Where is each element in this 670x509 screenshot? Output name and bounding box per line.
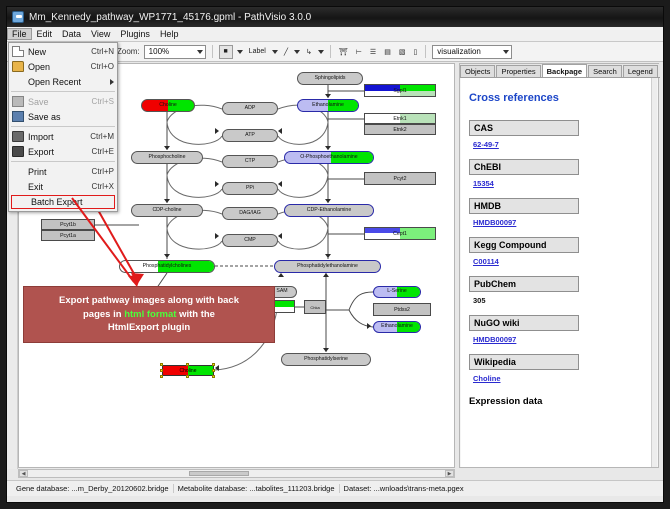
menu-item-open-recent-label: Open Recent [28, 77, 110, 87]
node-label: Choline [180, 368, 197, 374]
align-stack-icon[interactable]: ☰ [368, 45, 378, 59]
tab-backpage[interactable]: Backpage [542, 64, 587, 77]
gene-label: Sgpl1 [393, 88, 406, 94]
visualization-combo[interactable]: visualization [432, 45, 512, 59]
anchor-icon[interactable]: ⛩ [337, 45, 350, 59]
callout-line-2-highlight: html format [124, 309, 176, 320]
menu-divider-2 [11, 126, 115, 127]
app-icon [12, 11, 24, 23]
selection-handle-ml[interactable] [160, 369, 163, 372]
toolbar-divider-2 [330, 45, 331, 58]
cross-references-heading: Cross references [469, 92, 645, 104]
callout-line-2a: pages in [83, 309, 124, 320]
arrow-to-cmp-right [278, 233, 282, 239]
xref-value-wikipedia[interactable]: Choline [473, 374, 645, 383]
datanode-icon[interactable]: ■ [219, 45, 233, 59]
import-icon [12, 131, 24, 142]
title-bar: Mm_Kennedy_pathway_WP1771_45176.gpml - P… [7, 7, 663, 27]
node-label: Phosphatidylcholines [143, 264, 192, 269]
menu-item-print[interactable]: Print Ctrl+P [9, 164, 117, 179]
interaction-icon[interactable]: ↳ [304, 45, 314, 59]
menu-item-save-as-label: Save as [28, 112, 110, 122]
menu-item-import[interactable]: Import Ctrl+M [9, 129, 117, 144]
node-label: O-Phosphoethanolamine [300, 155, 357, 160]
node-phosphatidylserine[interactable]: Phosphatidylserine [281, 353, 371, 366]
callout-line-1: Export pathway images along with back [59, 295, 239, 306]
menu-item-exit-shortcut: Ctrl+X [88, 182, 114, 191]
interaction-dropdown-icon[interactable] [318, 50, 324, 54]
export-icon [12, 146, 24, 157]
gene-label: Pcyt2 [394, 176, 407, 182]
side-panel: Objects Properties Backpage Search Legen… [459, 63, 659, 468]
menu-item-save-shortcut: Ctrl+S [88, 97, 114, 106]
zoom-label: Zoom: [117, 47, 140, 56]
node-label: Choline [159, 103, 177, 108]
menu-item-exit[interactable]: Exit Ctrl+X [9, 179, 117, 194]
node-ppi[interactable]: PPi [222, 182, 278, 195]
node-label: SAM [276, 289, 287, 294]
node-choline-top[interactable]: Choline [141, 99, 195, 112]
arrow-pemt-to-pe [323, 273, 329, 277]
menu-item-batch-export-label: Batch Export [31, 197, 111, 207]
line-icon[interactable]: ╱ [282, 45, 290, 59]
arrow-cdpethn-to-pe [325, 254, 331, 258]
xref-name-chebi: ChEBI [469, 159, 579, 175]
label-dropdown-icon[interactable] [272, 50, 278, 54]
node-ethanolamine-bottom[interactable]: Ethanolamine [373, 321, 421, 333]
gene-sgpl1[interactable]: Sgpl1 [364, 84, 436, 97]
node-label: Phosphatidylserine [304, 357, 348, 362]
gene-label: Pcyt1b [60, 222, 76, 228]
arrow-pemt-dash-to-pe [278, 273, 284, 277]
menu-divider-3 [11, 161, 115, 162]
node-cdp-ethanolamine[interactable]: CDP-Ethanolamine [284, 204, 374, 217]
label-button[interactable]: Label [247, 45, 268, 59]
node-adp[interactable]: ADP [222, 102, 278, 115]
selection-handle-bl[interactable] [160, 375, 163, 378]
order-icon[interactable]: ▯ [411, 45, 419, 59]
gene-label: Cept1 [393, 231, 407, 237]
menu-help[interactable]: Help [155, 28, 184, 40]
selection-handle-tl[interactable] [160, 363, 163, 366]
menu-item-print-shortcut: Ctrl+P [88, 167, 114, 176]
menu-item-import-shortcut: Ctrl+M [86, 132, 114, 141]
node-label: CDP-choline [152, 208, 181, 213]
gene-pcyt1a[interactable]: Pcyt1a [41, 230, 95, 241]
scroll-left-arrow-icon[interactable]: ◀ [19, 470, 28, 477]
gene-label: Pcyt1a [60, 233, 76, 239]
distribute-icon[interactable]: ▤ [382, 45, 393, 59]
screenshot-frame: Mm_Kennedy_pathway_WP1771_45176.gpml - P… [0, 0, 670, 509]
menu-item-new[interactable]: New Ctrl+N [9, 44, 117, 59]
arrow-to-ppi-right [278, 181, 282, 187]
xref-name-pubchem: PubChem [469, 276, 579, 292]
menu-edit[interactable]: Edit [32, 28, 58, 40]
xref-name-wikipedia: Wikipedia [469, 354, 579, 370]
menu-item-open[interactable]: Open Ctrl+O [9, 59, 117, 74]
gene-label: Etnk2 [393, 127, 406, 133]
gene-etnk2[interactable]: Etnk2 [364, 124, 436, 135]
menu-item-export-shortcut: Ctrl+E [88, 147, 114, 156]
menu-item-open-label: Open [28, 62, 87, 72]
menu-item-save: Save Ctrl+S [9, 94, 117, 109]
gene-label: Chka [310, 305, 319, 310]
gene-chka[interactable]: Chka [304, 300, 326, 314]
blank-icon [12, 76, 24, 87]
node-label: PPi [246, 186, 254, 191]
node-label: L-Serine [387, 289, 407, 294]
node-sphingolipids[interactable]: Sphingolipids [297, 72, 363, 85]
node-cmp[interactable]: CMP [222, 234, 278, 247]
arrow-to-atp-left [215, 128, 219, 134]
status-gene-database: Gene database: ...m_Derby_20120602.bridg… [12, 484, 174, 493]
menu-item-save-as[interactable]: Save as [9, 109, 117, 124]
node-ethanolamine-top[interactable]: Ethanolamine [297, 99, 359, 112]
menu-item-new-label: New [28, 47, 87, 57]
zoom-combo[interactable]: 100% [144, 45, 206, 59]
tab-objects[interactable]: Objects [460, 65, 495, 77]
datanode-dropdown-icon[interactable] [237, 50, 243, 54]
callout-line-2b: with the [176, 309, 215, 320]
menu-view[interactable]: View [86, 28, 115, 40]
selection-handle-br[interactable] [212, 375, 215, 378]
selection-handle-tc[interactable] [186, 363, 189, 366]
menu-bar: File Edit Data View Plugins Help [7, 27, 663, 42]
arrow-sphingo-to-etn [325, 94, 331, 98]
xref-name-hmdb: HMDB [469, 198, 579, 214]
arrow-to-cmp-left [215, 233, 219, 239]
menu-item-print-label: Print [28, 167, 88, 177]
menu-item-open-recent[interactable]: Open Recent [9, 74, 117, 89]
node-dag[interactable]: DAG/IAG [222, 207, 278, 220]
chevron-down-icon-2 [503, 50, 509, 54]
menu-item-import-label: Import [28, 132, 86, 142]
annotation-callout: Export pathway images along with back pa… [23, 286, 275, 343]
xref-value-cas[interactable]: 62-49-7 [473, 140, 645, 149]
node-label: Phosphocholine [149, 155, 186, 160]
selection-handle-mr[interactable] [212, 369, 215, 372]
node-label: CTP [245, 159, 255, 164]
gene-cept1[interactable]: Cept1 [364, 227, 436, 240]
status-bar: Gene database: ...m_Derby_20120602.bridg… [7, 480, 663, 496]
node-atp[interactable]: ATP [222, 129, 278, 142]
selection-handle-bc[interactable] [186, 375, 189, 378]
arrow-phosphocholine-to-cdp [164, 199, 170, 203]
chevron-down-icon [197, 50, 203, 54]
menu-item-exit-label: Exit [28, 182, 88, 192]
gene-etnk1[interactable]: Etnk1 [364, 113, 436, 124]
node-label: DAG/IAG [239, 211, 261, 216]
side-panel-tabs: Objects Properties Backpage Search Legen… [460, 64, 660, 78]
xref-value-pubchem: 305 [473, 296, 645, 305]
submenu-arrow-icon [110, 79, 114, 85]
scrollbar-thumb[interactable] [189, 471, 249, 476]
node-label: ADP [245, 106, 256, 111]
node-ctp[interactable]: CTP [222, 155, 278, 168]
line-dropdown-icon[interactable] [294, 50, 300, 54]
blank-icon-4 [15, 197, 27, 208]
menu-item-export-label: Export [28, 147, 88, 157]
visualization-value: visualization [437, 47, 481, 56]
selection-handle-tr[interactable] [212, 363, 215, 366]
toolbar-divider [212, 45, 213, 58]
save-icon [12, 96, 24, 107]
arrow-pe-to-ps [323, 348, 329, 352]
scroll-right-arrow-icon[interactable]: ▶ [445, 470, 454, 477]
xref-name-nugo-wiki: NuGO wiki [469, 315, 579, 331]
gene-ptdss2[interactable]: Ptdss2 [373, 303, 431, 316]
side-panel-scrollbar[interactable] [651, 78, 657, 467]
node-cdp-choline[interactable]: CDP-choline [131, 204, 203, 217]
file-dropdown-menu: New Ctrl+N Open Ctrl+O Open Recent Save … [8, 42, 118, 212]
menu-divider-1 [11, 91, 115, 92]
node-label: Phosphatidylethanolamine [297, 264, 358, 269]
menu-data[interactable]: Data [57, 28, 86, 40]
node-label: Ethanolamine [312, 103, 344, 108]
node-label: Sphingolipids [315, 76, 346, 81]
save-as-icon [12, 111, 24, 122]
open-folder-icon [12, 61, 24, 72]
xref-value-chebi[interactable]: 15354 [473, 179, 645, 188]
align-left-icon[interactable]: ⊢ [354, 45, 364, 59]
node-choline-selected[interactable]: Choline [160, 363, 216, 378]
menu-item-open-shortcut: Ctrl+O [87, 62, 114, 71]
group-icon[interactable]: ▧ [397, 45, 408, 59]
node-label: CDP-Ethanolamine [307, 208, 351, 213]
arrow-choline-to-phosphocholine [164, 146, 170, 150]
blank-icon-3 [12, 181, 24, 192]
gene-label: Etnk1 [393, 116, 406, 122]
xref-name-kegg-compound: Kegg Compound [469, 237, 579, 253]
arrow-pethn-to-cdpethn [325, 199, 331, 203]
xref-value-hmdb[interactable]: HMDB00097 [473, 218, 645, 227]
menu-file[interactable]: File [7, 28, 32, 40]
arrow-to-ppi-left [215, 181, 219, 187]
node-label: CMP [244, 238, 256, 243]
backpage-content: Cross references CAS 62-49-7 ChEBI 15354… [461, 78, 653, 467]
gene-pcyt1b[interactable]: Pcyt1b [41, 219, 95, 230]
menu-item-export[interactable]: Export Ctrl+E [9, 144, 117, 159]
arrow-etn-to-pethn [325, 146, 331, 150]
arrow-to-atp-right [278, 128, 282, 134]
node-label: Ethanolamine [381, 324, 413, 329]
window-title: Mm_Kennedy_pathway_WP1771_45176.gpml - P… [29, 12, 311, 23]
xref-name-cas: CAS [469, 120, 579, 136]
node-l-serine[interactable]: L-Serine [373, 286, 421, 298]
tab-properties[interactable]: Properties [496, 65, 540, 77]
gene-label: Ptdss2 [394, 307, 410, 313]
callout-line-3: HtmlExport plugin [108, 322, 190, 333]
node-phosphatidylethanolamine[interactable]: Phosphatidylethanolamine [274, 260, 381, 273]
zoom-value: 100% [149, 47, 169, 56]
node-phosphocholine[interactable]: Phosphocholine [131, 151, 203, 164]
arrow-to-ethanolamine-bottom [367, 323, 371, 329]
node-label: ATP [245, 133, 255, 138]
canvas-horizontal-scrollbar[interactable]: ◀ ▶ [18, 469, 455, 478]
blank-icon-2 [12, 166, 24, 177]
new-document-icon [12, 46, 24, 57]
menu-item-new-shortcut: Ctrl+N [87, 47, 114, 56]
status-metabolite-database: Metabolite database: ...tabolites_111203… [174, 484, 340, 493]
menu-plugins[interactable]: Plugins [115, 28, 155, 40]
tab-search[interactable]: Search [588, 65, 622, 77]
gene-pcyt2[interactable]: Pcyt2 [364, 172, 436, 185]
menu-item-save-label: Save [28, 97, 88, 107]
xref-value-kegg-compound[interactable]: C00114 [473, 257, 645, 266]
expression-data-heading: Expression data [469, 396, 645, 407]
node-o-phosphoethanolamine[interactable]: O-Phosphoethanolamine [284, 151, 374, 164]
toolbar-divider-3 [425, 45, 426, 58]
arrow-cdp-to-pc [164, 254, 170, 258]
node-phosphatidylcholines[interactable]: Phosphatidylcholines [119, 260, 215, 273]
tab-legend[interactable]: Legend [623, 65, 658, 77]
status-dataset: Dataset: ...wnloads\trans-meta.pgex [340, 484, 468, 493]
xref-value-nugo-wiki[interactable]: HMDB00097 [473, 335, 645, 344]
menu-item-batch-export[interactable]: Batch Export [11, 195, 115, 209]
